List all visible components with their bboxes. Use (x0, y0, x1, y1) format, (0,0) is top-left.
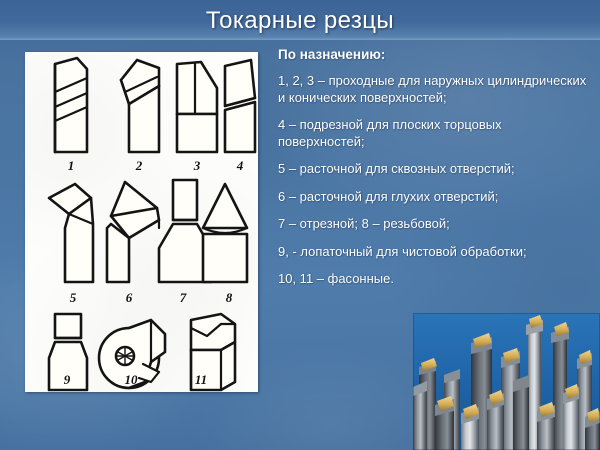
tool-label-8: 8 (226, 290, 233, 305)
text-line-2: 4 – подрезной для плоских торцовых повер… (278, 117, 588, 150)
slide-canvas: Токарные резцы (0, 0, 600, 450)
tool-label-6: 6 (126, 290, 133, 305)
text-line-4: 6 – расточной для глухих отверстий; (278, 189, 588, 206)
tool-shape-5 (49, 184, 93, 282)
tool-shape-8 (203, 184, 247, 282)
tool-label-3: 3 (193, 158, 201, 173)
text-heading: По назначению: (278, 46, 588, 64)
text-panel: По назначению: 1, 2, 3 – проходные для н… (278, 46, 588, 288)
text-line-7: 10, 11 – фасонные. (278, 271, 588, 288)
text-line-1: 1, 2, 3 – проходные для наружных цилиндр… (278, 73, 588, 106)
tool-label-5: 5 (70, 290, 77, 305)
tool-label-11: 11 (195, 372, 207, 387)
figure-panel: 1 2 3 4 (25, 52, 258, 392)
tool-shape-3 (177, 62, 217, 152)
tool-label-7: 7 (180, 290, 187, 305)
tool-shape-2 (121, 60, 159, 152)
tool-photo-graphic (413, 313, 600, 450)
tool-label-9: 9 (64, 372, 71, 387)
tool-shape-1 (55, 58, 87, 152)
tool-shape-6 (107, 182, 159, 282)
tool-label-10: 10 (125, 372, 139, 387)
text-line-6: 9, - лопаточный для чистовой обработки; (278, 244, 588, 261)
tool-label-1: 1 (68, 158, 75, 173)
lathe-tools-diagram: 1 2 3 4 (25, 52, 258, 392)
tool-photo-inset (413, 313, 600, 450)
text-line-5: 7 – отрезной; 8 – резьбовой; (278, 216, 588, 233)
tool-label-2: 2 (135, 158, 143, 173)
tool-shape-4 (225, 60, 255, 152)
tool-label-4: 4 (236, 158, 244, 173)
text-line-3: 5 – расточной для сквозных отверстий; (278, 161, 588, 178)
page-title: Токарные резцы (0, 6, 600, 36)
